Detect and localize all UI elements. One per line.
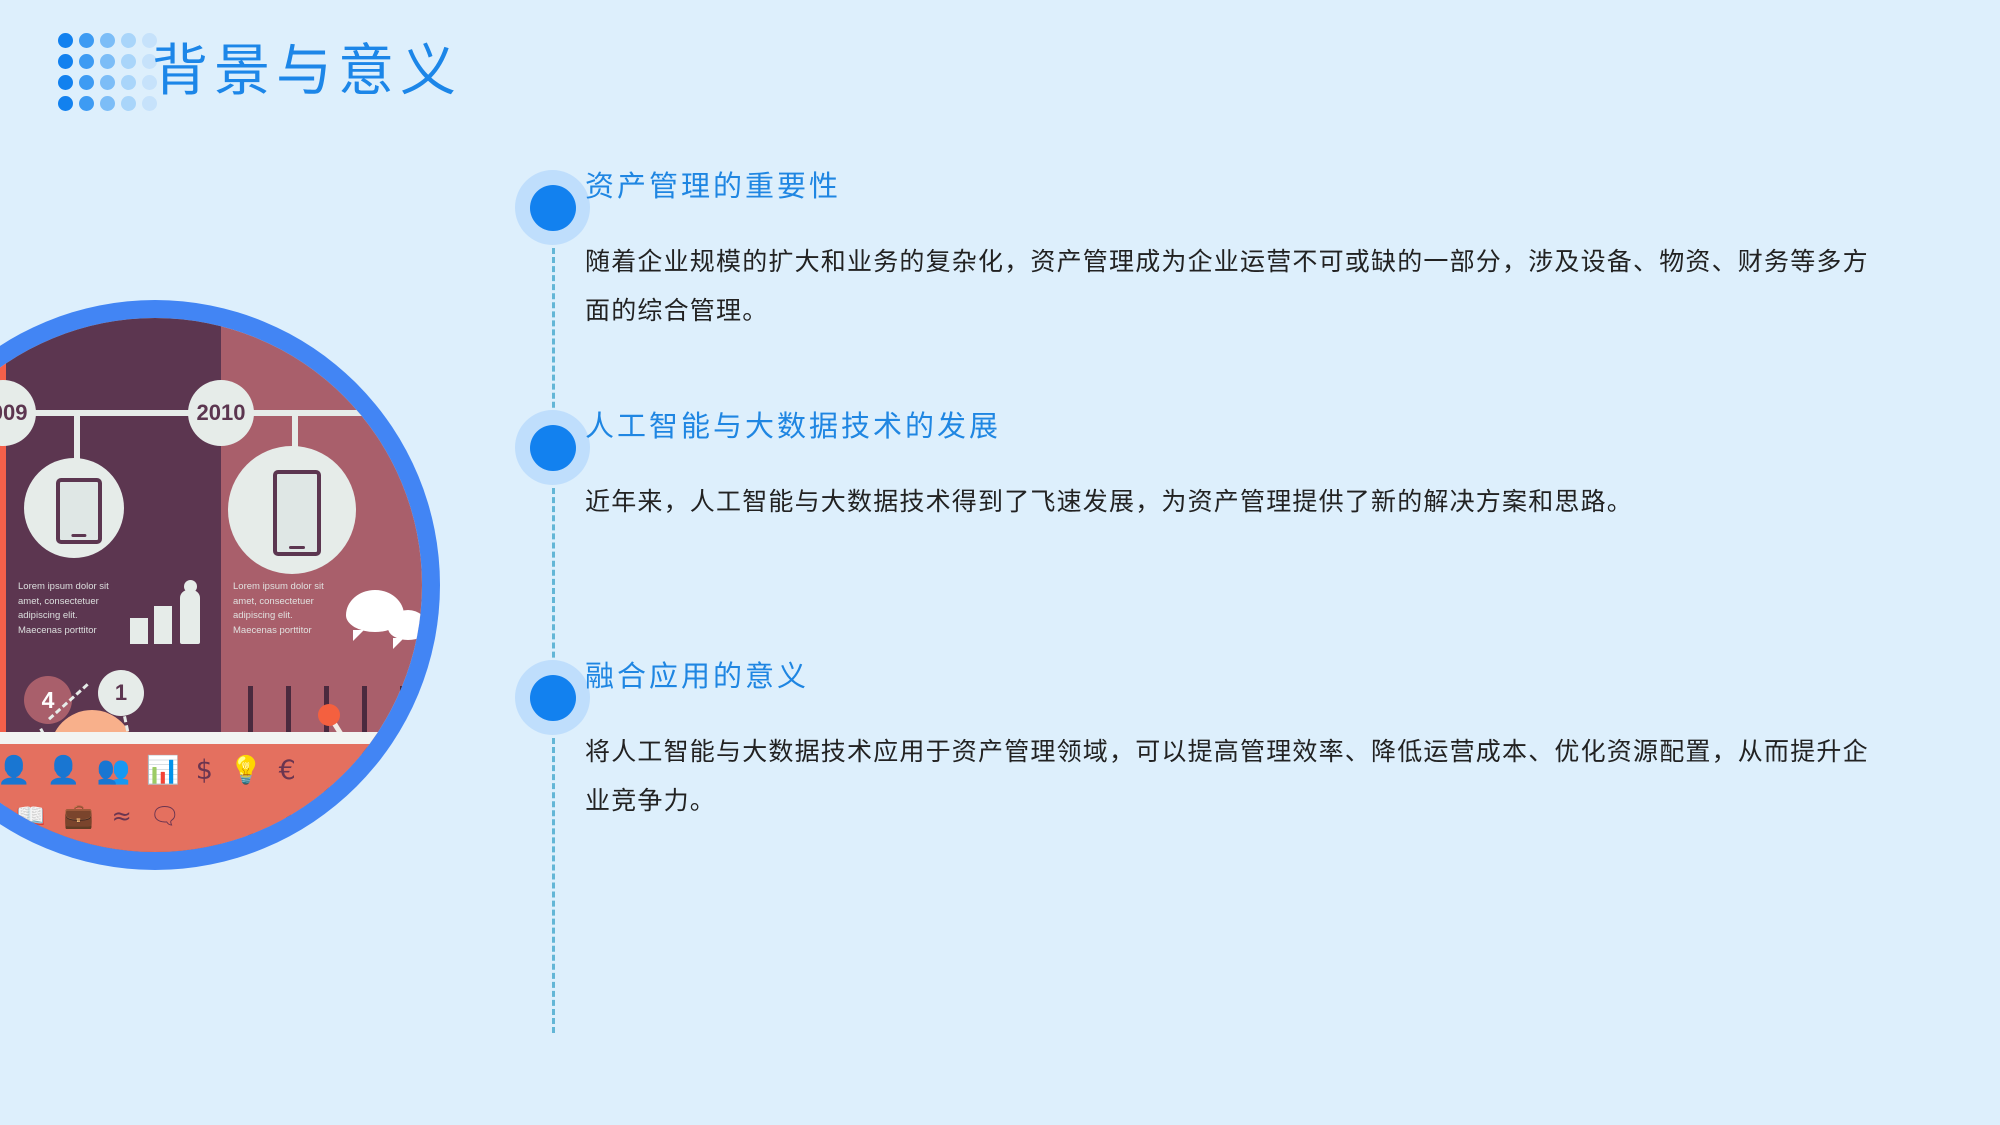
grid-dot-icon	[97, 51, 118, 72]
timeline-text-1: 资产管理的重要性 随着企业规模的扩大和业务的复杂化，资产管理成为企业运营不可或缺…	[585, 170, 1880, 336]
strip-icon: ≈	[112, 802, 132, 830]
grid-dot-icon	[118, 51, 139, 72]
grid-dot-icon	[55, 93, 76, 114]
timeline-marker-3[interactable]	[515, 660, 590, 735]
person-head-icon	[184, 580, 197, 593]
content-timeline: 资产管理的重要性 随着企业规模的扩大和业务的复杂化，资产管理成为企业运营不可或缺…	[460, 170, 1960, 870]
timeline-heading-1: 资产管理的重要性	[585, 170, 1880, 205]
device-bubble-phone	[228, 446, 356, 574]
grid-dot-icon	[97, 72, 118, 93]
grid-dot-icon	[118, 72, 139, 93]
timeline-heading-2: 人工智能与大数据技术的发展	[585, 410, 1880, 445]
grid-dot-icon	[55, 30, 76, 51]
grid-dot-icon	[76, 93, 97, 114]
strip-icon: 🗨	[150, 802, 180, 830]
timeline-marker-1[interactable]	[515, 170, 590, 245]
mini-bar-2	[154, 606, 172, 644]
grid-dot-icon	[76, 30, 97, 51]
zigzag-dot-3	[318, 704, 340, 726]
strip-icon: 👤	[0, 754, 31, 786]
grid-dot-icon	[118, 30, 139, 51]
decorative-dot-grid	[55, 30, 160, 114]
strip-icon: 📊	[146, 754, 180, 786]
phone-icon	[273, 470, 321, 556]
icon-strip: 👤👤👤👤👥📊$💡€ ✉◎⏱📖💼≈🗨	[0, 732, 422, 852]
strip-icon: 👥	[97, 754, 131, 786]
year-node-2010: 2010	[188, 380, 254, 446]
grid-dot-icon	[97, 93, 118, 114]
grid-dot-icon	[55, 51, 76, 72]
timeline-text-3: 融合应用的意义 将人工智能与大数据技术应用于资产管理领域，可以提高管理效率、降低…	[585, 660, 1880, 826]
strip-icon: €	[279, 755, 296, 786]
page-title: 背景与意义	[152, 42, 462, 104]
grid-dot-icon	[55, 72, 76, 93]
lorem-text-1: Lorem ipsum dolor sit amet, consectetuer…	[18, 580, 114, 639]
timeline-text-2: 人工智能与大数据技术的发展 近年来，人工智能与大数据技术得到了飞速发展，为资产管…	[585, 410, 1880, 528]
strip-divider	[0, 732, 422, 744]
grid-dot-icon	[118, 93, 139, 114]
timeline-body-2: 近年来，人工智能与大数据技术得到了飞速发展，为资产管理提供了新的解决方案和思路。	[585, 479, 1880, 528]
device-bubble-tablet	[24, 458, 124, 558]
person-icon	[180, 590, 200, 644]
infographic-clip: 2009 2010 2011 Lorem ipsum dolor sit ame…	[0, 318, 422, 852]
circular-timeline-infographic: 2009 2010 2011 Lorem ipsum dolor sit ame…	[0, 300, 440, 870]
cycle-number-1: 1	[98, 670, 144, 716]
timeline-marker-2[interactable]	[515, 410, 590, 485]
slide-root: 背景与意义 2009 2010 2011	[0, 0, 2000, 1125]
grid-dot-icon	[76, 72, 97, 93]
grid-dot-icon	[76, 51, 97, 72]
chat-bubble-small-icon	[388, 610, 422, 640]
icon-row-primary: 👤👤👤👤👥📊$💡€	[0, 754, 422, 786]
infographic-content: 2009 2010 2011 Lorem ipsum dolor sit ame…	[0, 318, 422, 852]
slide-header: 背景与意义	[0, 0, 2000, 150]
strip-icon: $	[196, 755, 213, 786]
timeline-body-1: 随着企业规模的扩大和业务的复杂化，资产管理成为企业运营不可或缺的一部分，涉及设备…	[585, 239, 1880, 337]
timeline-marker-dot-2	[530, 425, 576, 471]
strip-icon: 💼	[64, 802, 94, 830]
icon-row-secondary: ✉◎⏱📖💼≈🗨	[0, 802, 422, 830]
lorem-text-2: Lorem ipsum dolor sit amet, consectetuer…	[233, 580, 329, 639]
tablet-icon	[56, 478, 102, 544]
timeline-marker-dot-1	[530, 185, 576, 231]
grid-dot-icon	[97, 30, 118, 51]
strip-icon: 📖	[16, 802, 46, 830]
timeline-heading-3: 融合应用的意义	[585, 660, 1880, 695]
strip-icon: 👤	[47, 754, 81, 786]
timeline-marker-dot-3	[530, 675, 576, 721]
strip-icon: 💡	[229, 754, 263, 786]
mini-bar-1	[130, 618, 148, 644]
timeline-connector-3	[552, 738, 555, 1033]
timeline-body-3: 将人工智能与大数据技术应用于资产管理领域，可以提高管理效率、降低运营成本、优化资…	[585, 729, 1880, 827]
